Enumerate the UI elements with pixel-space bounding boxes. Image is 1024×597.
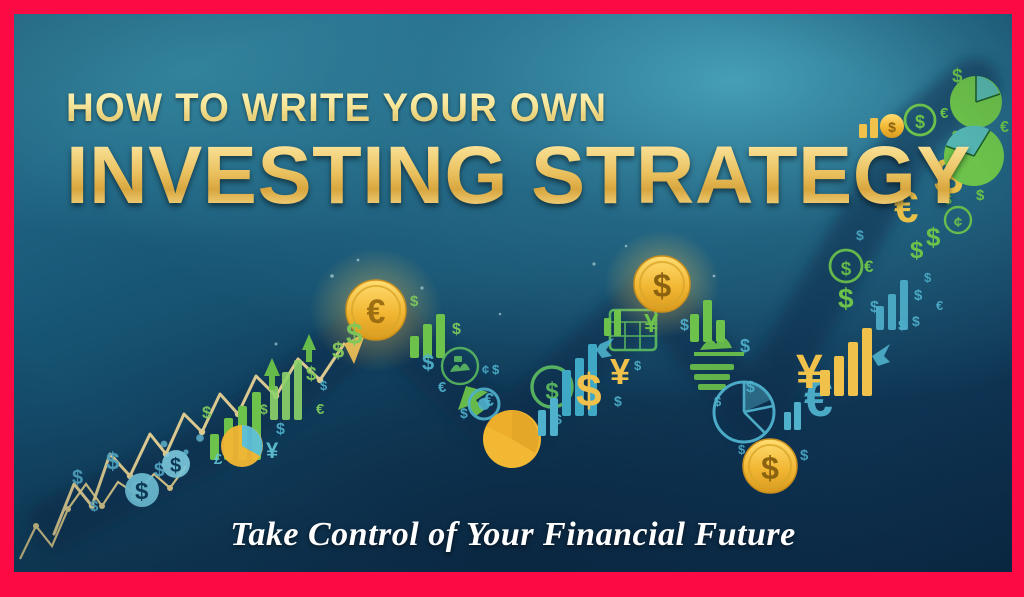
svg-text:€: € bbox=[864, 257, 874, 276]
svg-text:€: € bbox=[940, 105, 949, 122]
svg-text:$: $ bbox=[912, 313, 920, 329]
poster-frame: $ $ $ $ $ $ $ bbox=[0, 0, 1024, 597]
svg-text:$: $ bbox=[841, 259, 852, 280]
bar-chart-icon bbox=[820, 328, 872, 396]
svg-text:€: € bbox=[936, 298, 943, 313]
svg-text:¥: ¥ bbox=[610, 351, 630, 392]
svg-text:$: $ bbox=[870, 299, 879, 316]
svg-text:$: $ bbox=[492, 362, 500, 377]
coin-icon: $ bbox=[634, 256, 690, 312]
poster-canvas: $ $ $ $ $ $ $ bbox=[14, 14, 1012, 572]
svg-text:$: $ bbox=[888, 119, 896, 135]
svg-text:¥: ¥ bbox=[644, 308, 659, 338]
svg-text:$: $ bbox=[926, 222, 941, 252]
svg-text:$: $ bbox=[410, 293, 419, 310]
svg-text:€: € bbox=[438, 379, 447, 396]
bar-chart-icon bbox=[859, 118, 878, 138]
svg-text:$: $ bbox=[90, 498, 99, 515]
svg-text:$: $ bbox=[452, 321, 461, 338]
svg-text:$: $ bbox=[202, 403, 212, 422]
svg-text:$: $ bbox=[106, 448, 120, 475]
svg-text:$: $ bbox=[346, 318, 363, 351]
svg-text:¥: ¥ bbox=[266, 438, 279, 463]
svg-text:$: $ bbox=[800, 447, 809, 464]
svg-text:$: $ bbox=[614, 393, 622, 409]
svg-text:$: $ bbox=[944, 191, 952, 207]
svg-text:$: $ bbox=[952, 66, 963, 87]
svg-text:¢: ¢ bbox=[954, 214, 962, 231]
svg-text:$: $ bbox=[976, 187, 985, 204]
up-arrow-icon bbox=[872, 344, 890, 366]
svg-text:$: $ bbox=[576, 364, 602, 416]
svg-text:¢: ¢ bbox=[482, 362, 489, 377]
svg-text:$: $ bbox=[72, 467, 83, 489]
svg-text:$: $ bbox=[915, 112, 925, 132]
svg-text:$: $ bbox=[170, 455, 181, 477]
svg-text:$: $ bbox=[653, 267, 671, 304]
svg-text:$: $ bbox=[761, 450, 779, 486]
svg-text:£: £ bbox=[214, 451, 223, 468]
svg-text:$: $ bbox=[320, 378, 328, 393]
svg-text:$: $ bbox=[914, 287, 923, 304]
svg-text:$: $ bbox=[910, 237, 924, 264]
financial-arrow-graphic: $ $ $ $ $ $ $ bbox=[14, 14, 1012, 572]
svg-text:€: € bbox=[367, 293, 386, 331]
svg-text:$: $ bbox=[276, 421, 285, 438]
svg-text:$: $ bbox=[738, 442, 746, 457]
svg-text:$: $ bbox=[135, 478, 149, 505]
svg-text:$: $ bbox=[422, 350, 434, 375]
coin-icon: $ bbox=[880, 114, 904, 138]
svg-text:$: $ bbox=[740, 336, 750, 356]
svg-text:$: $ bbox=[554, 411, 562, 427]
svg-text:$: $ bbox=[898, 317, 906, 333]
svg-text:$: $ bbox=[680, 317, 689, 334]
coin-icon: $ bbox=[743, 439, 797, 493]
svg-text:$: $ bbox=[460, 405, 468, 421]
svg-text:€: € bbox=[1000, 119, 1009, 136]
svg-text:$: $ bbox=[306, 364, 317, 385]
pie-chart-icon bbox=[944, 126, 1004, 186]
pie-chart-icon bbox=[221, 425, 263, 467]
svg-text:¥: ¥ bbox=[796, 346, 823, 399]
svg-text:$: $ bbox=[634, 358, 642, 373]
svg-text:$: $ bbox=[856, 227, 864, 243]
svg-text:$: $ bbox=[838, 283, 854, 314]
svg-text:€: € bbox=[316, 401, 325, 418]
dollar-circle-icon: ¢ bbox=[945, 207, 971, 233]
svg-text:$: $ bbox=[924, 270, 932, 285]
pie-chart-icon bbox=[483, 410, 541, 468]
svg-text:€: € bbox=[894, 183, 918, 232]
svg-text:$: $ bbox=[260, 401, 268, 417]
